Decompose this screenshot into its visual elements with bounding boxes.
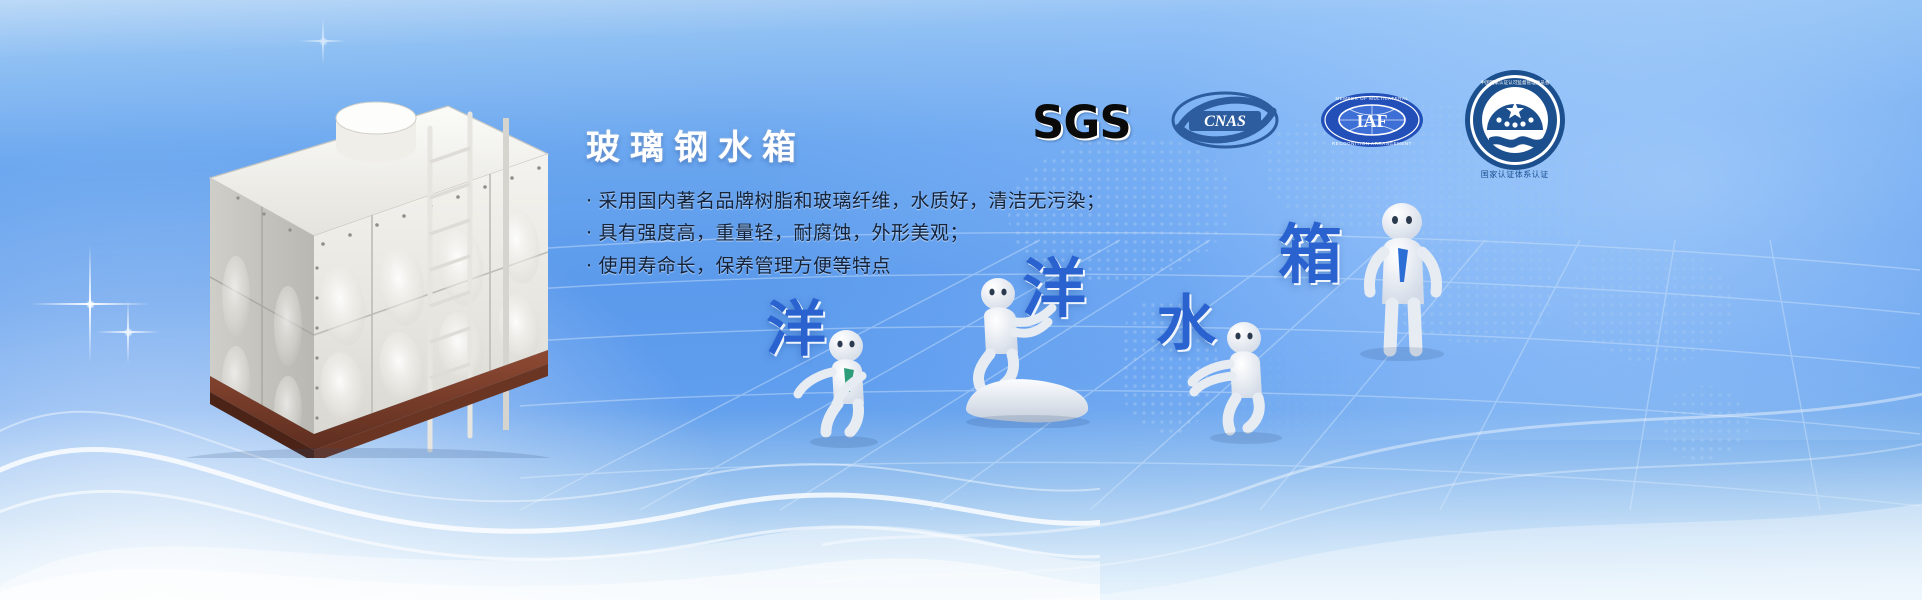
svg-text:CNAS: CNAS	[1204, 113, 1246, 130]
svg-text:中国国家认证认可监督管理委员会: 中国国家认证认可监督管理委员会	[1480, 79, 1549, 86]
cnas-seal-icon: CNAS	[1169, 89, 1281, 151]
iaf-seal-icon: IAF MEMBER OF MULTILATERAL RECOGNITION A…	[1319, 91, 1425, 149]
list-item: ·具有强度高，重量轻，耐腐蚀，外形美观；	[586, 217, 1226, 250]
list-item: ·使用寿命长，保养管理方便等特点	[586, 250, 1226, 283]
list-item-label: 采用国内著名品牌树脂和玻璃纤维，水质好，清洁无污染；	[599, 190, 1106, 212]
cnca-caption: 国家认证体系认证	[1463, 169, 1567, 180]
list-item-label: 使用寿命长，保养管理方便等特点	[599, 255, 892, 277]
promo-banner: 玻璃钢水箱 ·采用国内著名品牌树脂和玻璃纤维，水质好，清洁无污染； ·具有强度高…	[0, 0, 1922, 600]
cert-logo-iaf: IAF MEMBER OF MULTILATERAL RECOGNITION A…	[1319, 91, 1425, 153]
feature-list: ·采用国内著名品牌树脂和玻璃纤维，水质好，清洁无污染； ·具有强度高，重量轻，耐…	[586, 185, 1226, 283]
cert-logo-sgs: SGS	[1032, 100, 1131, 145]
list-item: ·采用国内著名品牌树脂和玻璃纤维，水质好，清洁无污染；	[586, 185, 1226, 218]
cert-logo-cnca: 中国国家认证认可监督管理委员会 国家认证体系认证	[1463, 68, 1567, 176]
tank-top-hatch	[336, 102, 416, 162]
cert-logo-cnas: CNAS	[1169, 89, 1281, 155]
mascot-figure-icon	[1278, 192, 1468, 372]
mascot-figure-icon	[766, 300, 906, 450]
product-image-water-tank	[118, 58, 588, 458]
mascot-standing-xiang: 箱	[1278, 192, 1468, 372]
mascot-figure-icon	[960, 258, 1110, 428]
bullet-marker-icon: ·	[586, 255, 593, 277]
cnca-round-seal-icon: 中国国家认证认可监督管理委员会	[1463, 68, 1567, 172]
mascot-pushing-yang-2: 洋	[960, 258, 1110, 428]
iaf-ring-text-bottom: RECOGNITION ARRANGEMENT	[1332, 141, 1412, 146]
bullet-marker-icon: ·	[586, 222, 593, 244]
list-item-label: 具有强度高，重量轻，耐腐蚀，外形美观；	[599, 222, 970, 244]
sgs-wordmark: SGS	[1032, 100, 1131, 145]
svg-text:IAF: IAF	[1356, 111, 1387, 131]
bullet-marker-icon: ·	[586, 190, 593, 212]
certification-logos: SGS CNAS IAF	[1032, 68, 1567, 176]
mascot-pushing-yang-1: 洋	[766, 300, 906, 450]
iaf-ring-text-top: MEMBER OF MULTILATERAL	[1335, 96, 1408, 101]
